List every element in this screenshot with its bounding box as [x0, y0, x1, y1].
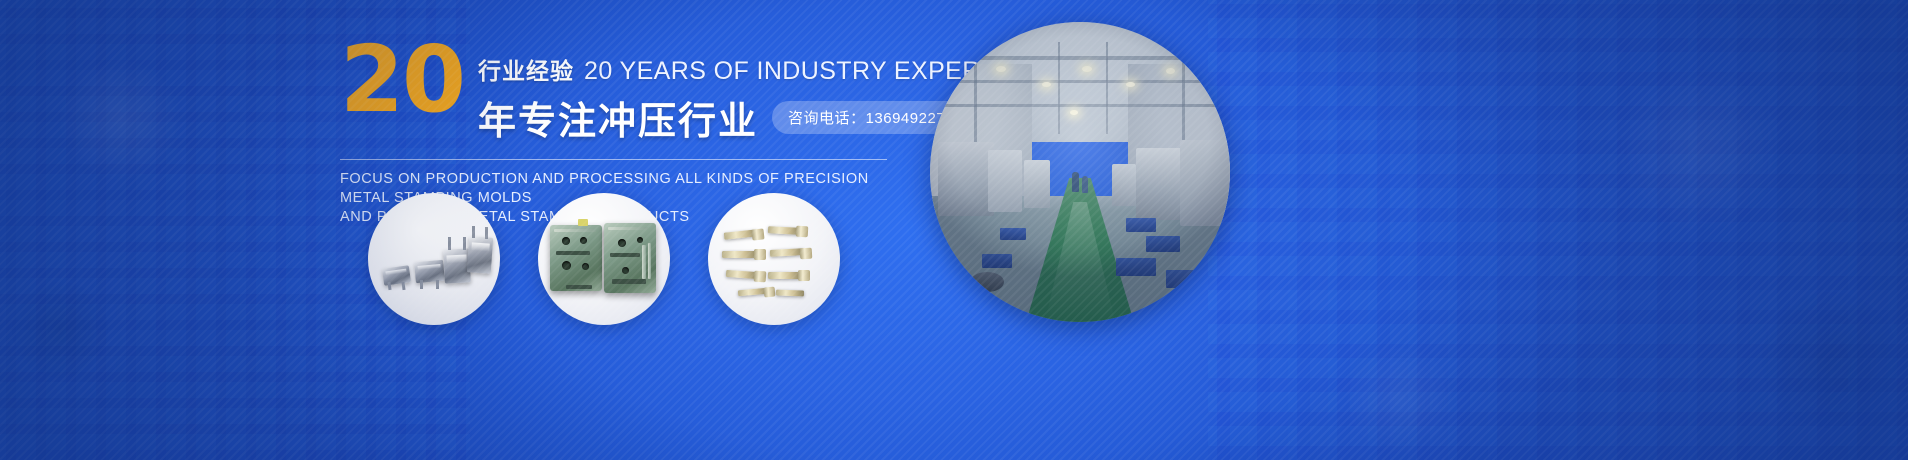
product-circle-pins — [708, 193, 840, 325]
headline-divider — [340, 159, 887, 160]
pins-illustration — [708, 193, 840, 325]
promo-banner: 20 行业经验 20 YEARS OF INDUSTRY EXPERIENCE … — [0, 0, 1908, 460]
headline-row: 20 行业经验 20 YEARS OF INDUSTRY EXPERIENCE … — [340, 42, 900, 145]
focus-label-cn: 年专注冲压行业 — [478, 90, 758, 145]
experience-label-cn: 行业经验 — [478, 52, 574, 86]
years-number: 20 — [340, 42, 464, 118]
product-circle-connectors — [368, 193, 500, 325]
photo-shading — [930, 22, 1230, 322]
product-circle-mold — [538, 193, 670, 325]
mold-illustration — [538, 193, 670, 325]
factory-photo-circle — [930, 22, 1230, 322]
background-factory-ghost-right — [1208, 0, 1908, 460]
connectors-illustration — [368, 193, 500, 325]
